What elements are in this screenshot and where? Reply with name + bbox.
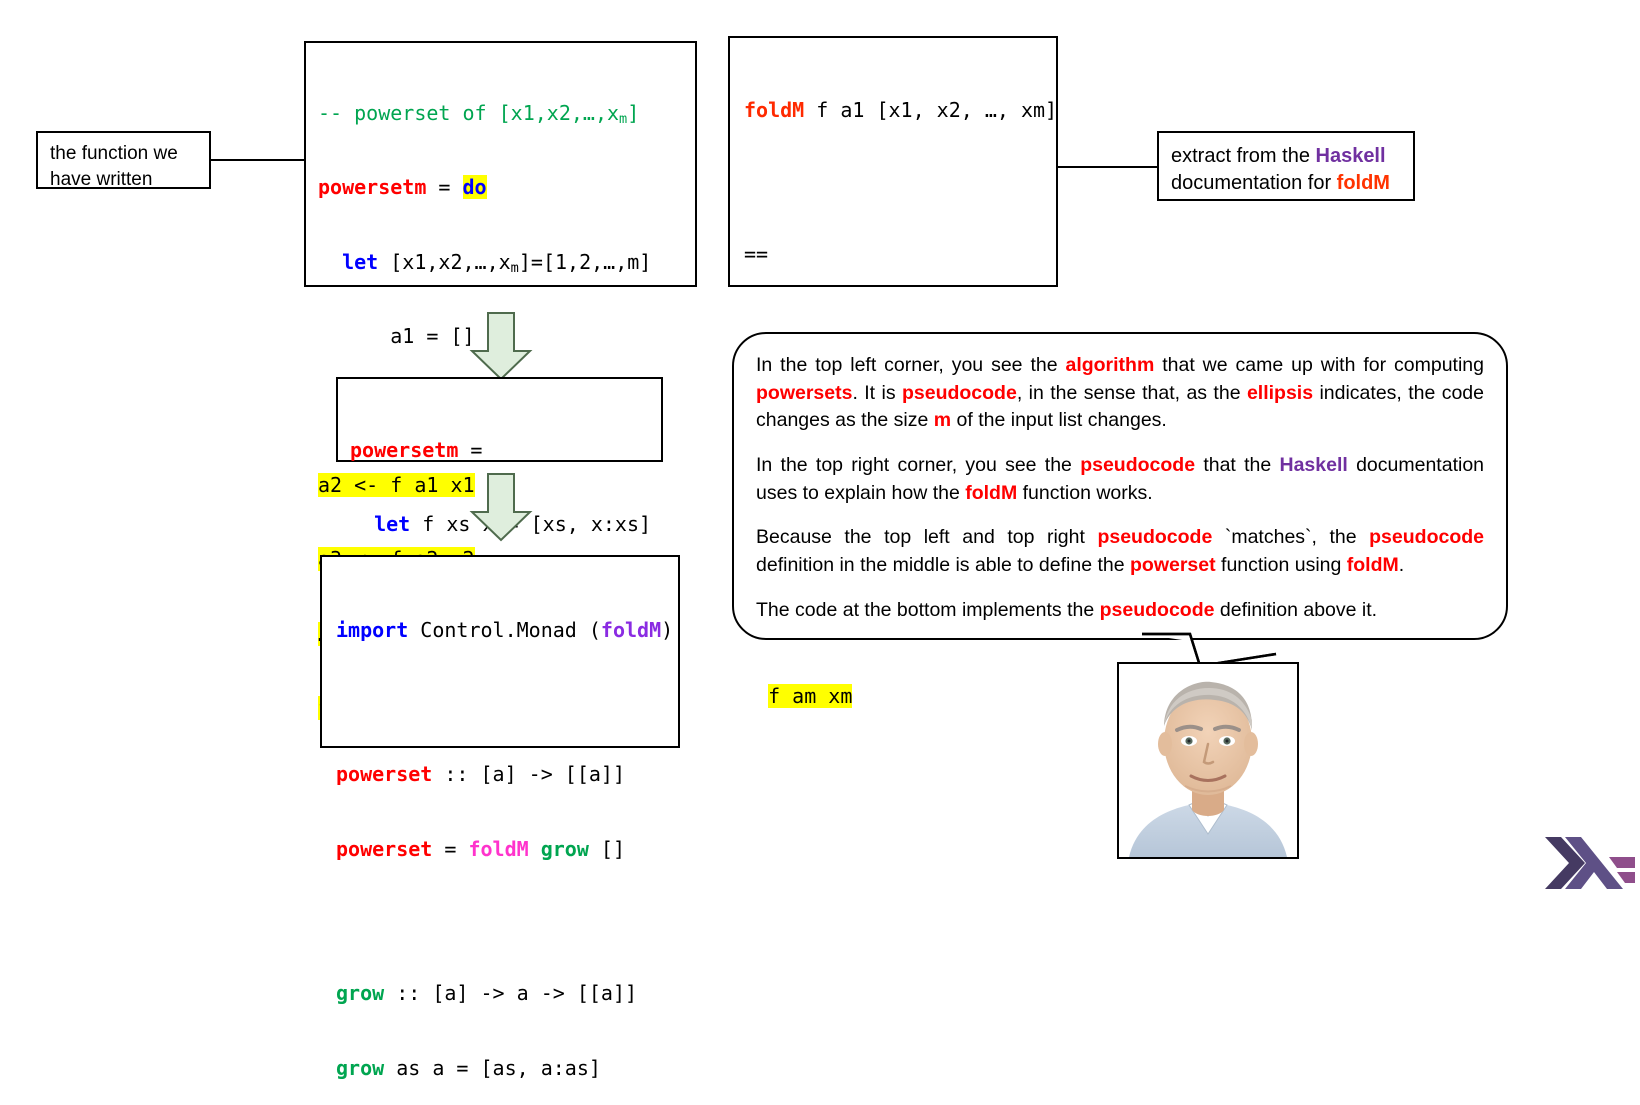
bubble-paragraph-1: In the top left corner, you see the algo… — [756, 352, 1484, 435]
code-line — [336, 910, 678, 932]
code-line: powersetm = do — [318, 174, 695, 200]
code-line: foldM f a1 [x1, x2, …, xm] — [744, 97, 1056, 123]
bubble-paragraph-2: In the top right corner, you see the pse… — [756, 452, 1484, 507]
bubble-paragraph-4: The code at the bottom implements the ps… — [756, 597, 1484, 625]
emphasis-text: pseudocode — [1369, 526, 1484, 548]
body-text: . — [1399, 554, 1404, 576]
left-connector-line — [210, 159, 305, 161]
haskell-logo — [1545, 835, 1635, 891]
code-line: import Control.Monad (foldM) — [336, 617, 678, 643]
body-text: that the — [1195, 454, 1279, 476]
body-text: definition in the middle is able to defi… — [756, 554, 1130, 576]
emphasis-text: powerset — [1130, 554, 1216, 576]
emphasis-text: pseudocode — [1097, 526, 1212, 548]
topright-code-box: foldM f a1 [x1, x2, …, xm] == do a2 <- f… — [728, 36, 1058, 287]
emphasis-text: foldM — [1347, 554, 1399, 576]
body-text: The code at the bottom implements the — [756, 599, 1100, 621]
emphasis-text: pseudocode — [1100, 599, 1215, 621]
right-annotation-box: extract from the Haskell documentation f… — [1157, 131, 1415, 201]
body-text: Because the top left and top right — [756, 526, 1097, 548]
code-line: powersetm = — [350, 437, 661, 463]
speech-bubble: In the top left corner, you see the algo… — [732, 332, 1508, 640]
down-arrow-2 — [466, 472, 536, 542]
body-text: `matches`, the — [1212, 526, 1369, 548]
bubble-paragraph-3: Because the top left and top right pseud… — [756, 524, 1484, 579]
code-line: let [x1,x2,…,xm]=[1,2,…,m] — [318, 249, 695, 275]
presenter-photo — [1117, 662, 1299, 859]
bottom-code-box: import Control.Monad (foldM) powerset ::… — [320, 555, 680, 748]
left-annotation-box: the function we have written — [36, 131, 211, 189]
emphasis-text: Haskell — [1280, 454, 1348, 476]
body-text: that we came up with for computing — [1154, 354, 1484, 376]
left-annotation-line1: the function we — [50, 141, 197, 167]
code-line: == — [744, 241, 1056, 267]
code-line: powerset = foldM grow [] — [336, 836, 678, 862]
emphasis-text: pseudocode — [902, 382, 1017, 404]
body-text: In the top right corner, you see the — [756, 454, 1080, 476]
body-text: , in the sense that, as the — [1017, 382, 1247, 404]
emphasis-text: algorithm — [1065, 354, 1154, 376]
right-connector-line — [1058, 166, 1158, 168]
emphasis-text: m — [934, 409, 951, 431]
code-line: f am xm — [744, 683, 1056, 709]
emphasis-text: powersets — [756, 382, 852, 404]
right-annotation-line2: documentation for foldM — [1171, 170, 1401, 197]
emphasis-text: pseudocode — [1080, 454, 1195, 476]
body-text: In the top left corner, you see the — [756, 354, 1065, 376]
body-text: function works. — [1017, 482, 1152, 504]
body-text: definition above it. — [1214, 599, 1377, 621]
topleft-code-box: -- powerset of [x1,x2,…,xm] powersetm = … — [304, 41, 697, 287]
left-annotation-line2: have written — [50, 167, 197, 193]
middle-code-box: powersetm = let f xs x = [xs, x:xs] in f… — [336, 377, 663, 462]
right-annotation-line1: extract from the Haskell — [1171, 143, 1401, 170]
body-text: of the input list changes. — [951, 409, 1167, 431]
emphasis-text: foldM — [965, 482, 1017, 504]
code-line — [336, 691, 678, 713]
code-line: powerset :: [a] -> [[a]] — [336, 761, 678, 787]
emphasis-text: ellipsis — [1247, 382, 1313, 404]
code-line: grow :: [a] -> a -> [[a]] — [336, 980, 678, 1006]
code-line: -- powerset of [x1,x2,…,xm] — [318, 100, 695, 126]
code-line: grow as a = [as, a:as] — [336, 1055, 678, 1081]
presenter-portrait-illustration — [1119, 664, 1297, 857]
code-line — [744, 171, 1056, 193]
body-text: function using — [1216, 554, 1347, 576]
body-text: . It is — [852, 382, 902, 404]
down-arrow-1 — [466, 311, 536, 381]
